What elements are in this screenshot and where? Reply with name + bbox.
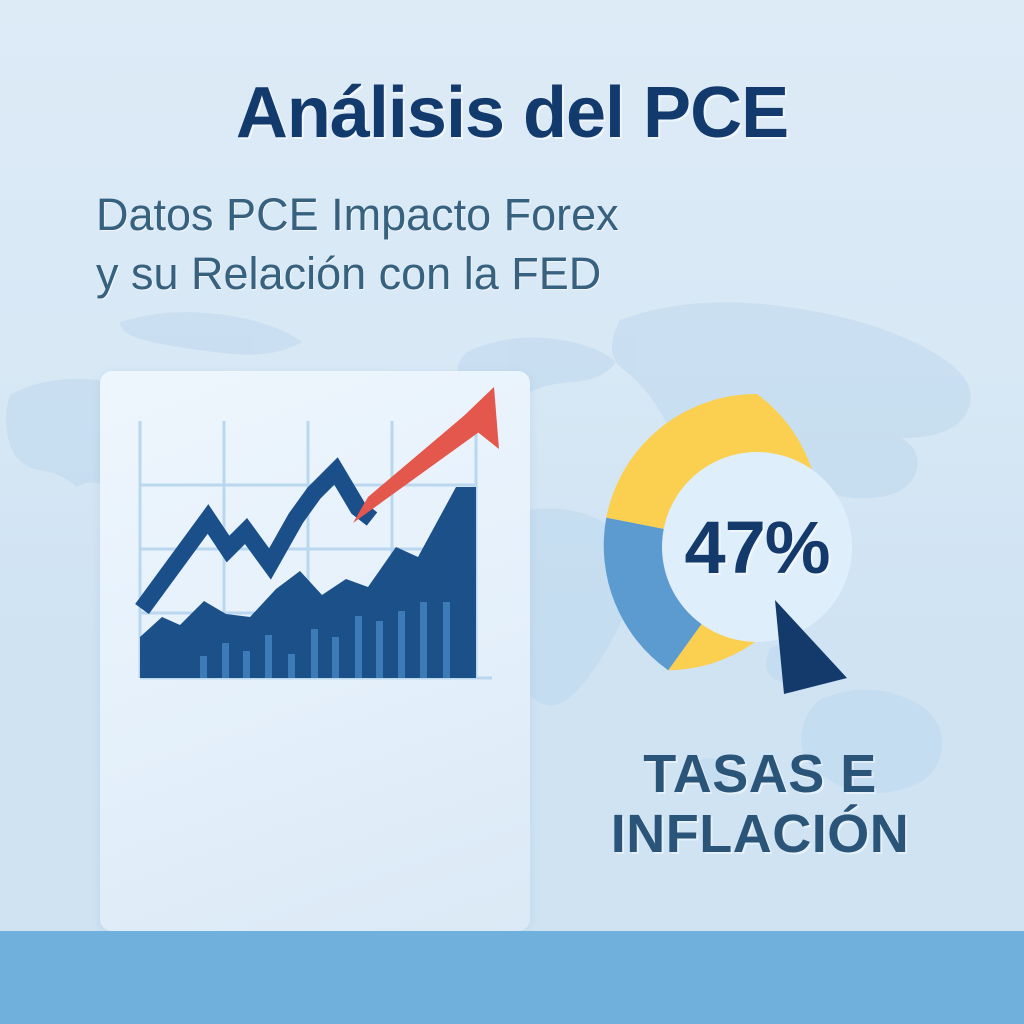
donut-chart: 47% [592, 382, 922, 712]
growth-chart [100, 371, 530, 931]
page-subtitle: Datos PCE Impacto Forex y su Relación co… [96, 186, 956, 303]
right-caption: TASAS E INFLACIÓN [540, 744, 980, 865]
donut-hole [662, 452, 852, 642]
right-caption-line-2: INFLACIÓN [540, 804, 980, 864]
infographic-poster: Análisis del PCE Datos PCE Impacto Forex… [0, 0, 1024, 1024]
bottom-band [0, 931, 1024, 1024]
donut-chart-svg [592, 382, 922, 712]
subtitle-line-2: y su Relación con la FED [96, 245, 956, 304]
page-title: Análisis del PCE [0, 72, 1024, 154]
subtitle-line-1: Datos PCE Impacto Forex [96, 186, 956, 245]
chart-card: $€¥ JPY [100, 371, 530, 931]
right-caption-line-1: TASAS E [540, 744, 980, 804]
